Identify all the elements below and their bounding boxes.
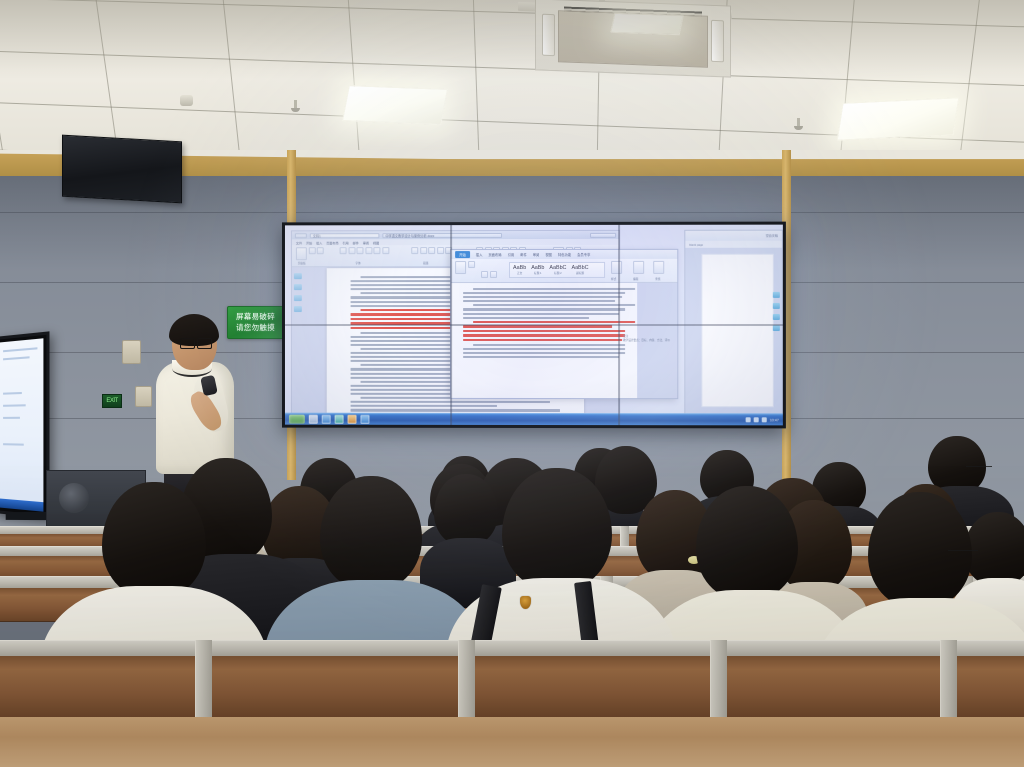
ribbon-group-1: 字体	[356, 261, 361, 265]
document-text-line	[463, 356, 619, 358]
ribbon-group-0: 剪贴板	[298, 261, 306, 265]
panel-seam-horizontal	[285, 324, 783, 326]
word2-tab-2[interactable]: 页面布局	[488, 252, 501, 257]
document-text-line	[463, 300, 615, 302]
right-window-side-icons[interactable]	[773, 292, 780, 336]
video-wall-screen: 文档1 中学语文教学设计与案例分析.docx 文件 开始 插入 页面布局 引用 …	[285, 225, 783, 426]
document-text-line	[463, 292, 625, 294]
head	[696, 486, 798, 600]
ac-vent-right	[711, 20, 724, 62]
style-gallery[interactable]: AaBb 正文 AaBb 标题 1 AaBbC 标题 2 AaBbC	[509, 262, 605, 278]
wall-control-box[interactable]	[122, 340, 141, 364]
head	[502, 468, 612, 590]
ribbon-tab-5[interactable]: 邮件	[353, 240, 359, 245]
ac-vent-left	[542, 14, 555, 56]
lecture-hall-photo: EXIT 屏幕易破碎 请您勿触摸 文档1	[0, 0, 1024, 767]
document-text-line	[463, 339, 622, 341]
word2-tab-6[interactable]: 视图	[545, 252, 552, 257]
ribbon-tab-4[interactable]: 引用	[343, 240, 349, 245]
style-name: 标题 2	[549, 271, 566, 275]
ceiling-light-left	[342, 85, 448, 125]
glasses	[948, 550, 978, 554]
word2-tab-1[interactable]: 插入	[476, 252, 483, 257]
ribbon-tab-7[interactable]: 视图	[373, 240, 379, 245]
ribbon-tab-3[interactable]: 页面布局	[326, 240, 338, 245]
video-wall-display[interactable]: 文档1 中学语文教学设计与案例分析.docx 文件 开始 插入 页面布局 引用 …	[282, 222, 786, 429]
head	[320, 476, 422, 590]
sprinkler-head-right	[795, 118, 802, 132]
document-text-line	[463, 330, 625, 332]
word-tab-1-label: 文档1	[311, 234, 379, 239]
document-text-line	[463, 308, 625, 310]
word2-tab-8[interactable]: 会员专享	[577, 252, 590, 257]
side-icon[interactable]	[773, 303, 780, 309]
comment-text: 教学设计要点：目标、内容、方法、评价	[623, 339, 675, 343]
word-tab-2-label: 中学语文教学设计与案例分析.docx	[383, 234, 501, 239]
word2-ribbon[interactable]: AaBb 正文 AaBb 标题 1 AaBbC 标题 2 AaBbC	[451, 259, 677, 283]
side-icon[interactable]	[773, 292, 780, 298]
ceiling-light-right	[837, 97, 960, 141]
right-window-title-bar[interactable]: 空白文档	[685, 231, 782, 241]
document-text-line	[473, 288, 635, 290]
style-option[interactable]: AaBb 正文	[513, 265, 526, 275]
word2-tab-7[interactable]: 特色功能	[558, 252, 571, 257]
style-name: 副标题	[571, 271, 588, 275]
head	[964, 512, 1024, 586]
document-text-line	[463, 334, 625, 336]
document-text-line	[463, 313, 619, 315]
word2-group-2: 查找	[655, 277, 660, 281]
word2-page	[451, 283, 637, 398]
document-text-line	[463, 317, 589, 319]
ribbon-tab-6[interactable]: 审阅	[363, 240, 369, 245]
word2-group-1: 编辑	[633, 277, 638, 281]
presenter-glasses	[180, 338, 214, 347]
document-text-line	[463, 348, 625, 350]
style-option[interactable]: AaBb 标题 1	[531, 265, 544, 275]
side-tool-icon[interactable]	[294, 273, 302, 279]
right-window-page	[701, 254, 773, 408]
right-window-title: 空白文档	[766, 234, 778, 238]
glasses	[966, 466, 992, 470]
document-text-line	[463, 296, 622, 298]
word2-group-0: 样式	[611, 277, 616, 281]
ribbon-tab-0[interactable]: 文件	[296, 240, 302, 245]
document-text-line	[473, 344, 625, 346]
word2-active-tab[interactable]: 开始	[455, 251, 470, 258]
ribbon-tab-1[interactable]: 开始	[306, 240, 312, 245]
comment-balloon[interactable]: 批注 教学设计要点：目标、内容、方法、评价	[623, 335, 675, 343]
style-name: 正文	[513, 271, 526, 275]
document-text-line	[473, 321, 635, 323]
side-tool-icon[interactable]	[294, 284, 302, 290]
word2-tab-5[interactable]: 审阅	[533, 252, 540, 257]
head	[102, 482, 206, 598]
side-tool-icon[interactable]	[294, 306, 302, 312]
word2-tab-3[interactable]: 引用	[508, 252, 515, 257]
ceiling-air-conditioner	[535, 0, 731, 78]
ribbon-group-2: 段落	[423, 261, 428, 265]
style-option[interactable]: AaBbC 副标题	[571, 265, 588, 275]
word2-ribbon-tabs[interactable]: 开始 插入 页面布局 引用 邮件 审阅 视图 特色功能 会员专享	[451, 250, 677, 259]
side-icon[interactable]	[773, 314, 780, 320]
right-toolbar-label: blank page	[689, 242, 703, 246]
word2-document-canvas[interactable]: 批注 教学设计要点：目标、内容、方法、评价	[451, 283, 677, 398]
ribbon-tab-2[interactable]: 插入	[316, 240, 322, 245]
head	[434, 474, 498, 546]
style-name: 标题 1	[531, 271, 544, 275]
ceiling-light-far	[610, 13, 684, 35]
side-tool-icon[interactable]	[294, 295, 302, 301]
sprinkler-head-left	[292, 100, 299, 114]
document-text-line	[463, 352, 625, 354]
word-side-toolbar[interactable]	[294, 273, 302, 317]
wall-mounted-speaker	[62, 135, 182, 204]
style-option[interactable]: AaBbC 标题 2	[549, 265, 566, 275]
right-window-canvas[interactable]	[685, 248, 782, 414]
document-text-line	[473, 304, 635, 306]
word2-tab-4[interactable]: 邮件	[520, 252, 527, 257]
smoke-detector	[180, 95, 193, 106]
